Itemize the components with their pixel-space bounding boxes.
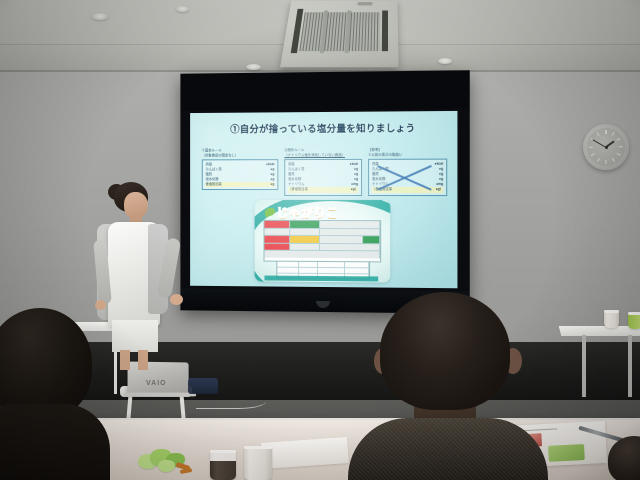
product-package-photo: じゃがりこ [255,200,391,283]
clock-tick [617,153,621,156]
ceiling-downlight [438,58,452,64]
cup-sleeve [210,461,236,480]
skirt [112,320,158,352]
slide-column-3: 【参考】 ※以前の表示の取扱い 熱量●kcal たんぱく質●g 脂質●g 炭水化… [368,147,447,195]
coffee-cup [210,450,236,480]
tweed-texture [348,418,548,480]
table-cell [318,262,345,267]
nutrition-row-salt: 食塩相当量●g [206,182,275,187]
leaf-icon [264,206,277,217]
table-cell [290,243,320,250]
table-cell [264,228,290,235]
cup-rim [604,310,619,313]
laptop-brand-label: VAIO [146,380,166,387]
table-cell [264,236,289,243]
table-leg [628,335,632,397]
table-cell [345,262,369,267]
laptop-base [124,393,197,397]
projection-screen: ①自分が摿っている塩分量を知りましょう ①基本ルール （対象食品の限定なし） 熱… [180,70,469,314]
ceiling-downlight [176,6,189,12]
clock-tick [612,158,615,162]
clock-tick [605,130,606,134]
nutrition-box: 熱量●kcal たんぱく質●g 脂質●g 炭水化物●g 食塩相当量●g [202,159,279,190]
leg [138,350,148,370]
audience-member-left [0,308,104,480]
table-cell [290,228,320,235]
shoulders [0,404,110,480]
column-heading: ②例外ルール （ナトリウム塩を添加していない食品） [284,148,362,158]
cross-out-icon [375,164,434,190]
lettuce-leaf [158,460,175,472]
table-cell [320,228,380,235]
clock-tick [589,146,593,147]
nutrition-box: 熱量●kcal たんぱく質●g 脂質●g 炭水化物●g ナトリウム●mg （食塩… [368,158,447,195]
table-cell [320,221,380,228]
table-cell [299,262,317,267]
leg [120,350,130,370]
table-cell [320,243,380,250]
face [124,192,148,219]
table-cell [264,221,290,228]
package-logo: じゃがりこ [263,203,383,218]
table-leg [582,335,586,397]
product-name: じゃがりこ [276,204,338,221]
clock-tick [619,146,623,147]
ceiling-downlight [246,64,261,70]
projected-slide: ①自分が摿っている塩分量を知りましょう ①基本ルール （対象食品の限定なし） 熱… [190,111,457,288]
slide-title: ①自分が摿っている塩分量を知りましょう [190,120,457,136]
carrot-strip [180,468,193,474]
shoulders-jacket [348,418,548,480]
package-caption-bar [264,276,378,282]
table-cell [318,268,345,273]
power-cable [196,390,266,409]
nutrition-row-salt: （食塩相当量●g） [288,187,358,192]
paper-cup [244,446,272,480]
salad-plate [136,448,200,478]
right-hand [170,294,183,305]
wall-clock [583,124,629,170]
table-cell [264,251,380,258]
table-cell [345,268,369,273]
ceiling-air-conditioner [280,0,399,67]
clock-face [587,128,625,166]
cup-rim [210,450,236,453]
ac-grille [299,12,380,51]
column-heading: ①基本ルール （対象食品の限定なし） [202,148,279,158]
audience-member-center [352,292,540,480]
head [380,292,510,410]
clock-tick [617,138,621,141]
clock-tick [612,132,615,136]
handout-vegetable-photo [548,444,585,462]
table-cell [264,243,290,250]
table-cell [290,236,320,243]
drink-cup [628,312,640,329]
cup-rim [628,312,640,315]
table-row [264,251,380,258]
package-label-table [264,220,382,263]
cup-rim [244,446,272,449]
seminar-room-photo: ①自分が摿っている塩分量を知りましょう ①基本ルール （対象食品の限定なし） 熱… [0,0,640,480]
table-cell [320,236,364,243]
screen-valance [180,70,469,111]
column-heading: 【参考】 ※以前の表示の取扱い [368,147,447,157]
clock-tick [597,132,600,136]
audience-member-right [608,436,640,480]
ac-sensor [357,2,372,5]
paper-cup [604,310,619,328]
slide-column-2: ②例外ルール （ナトリウム塩を添加していない食品） 熱量●kcal たんぱく質●… [284,148,362,196]
ceiling-downlight [92,13,108,20]
head [608,436,640,480]
table-cell [299,268,317,273]
table-cell [363,236,380,243]
nutrition-box: 熱量●kcal たんぱく質●g 脂質●g 炭水化物●g ナトリウム●mg （食塩… [284,159,362,196]
slide-column-1: ①基本ルール （対象食品の限定なし） 熱量●kcal たんぱく質●g 脂質●g … [202,148,279,190]
clock-center-pin [605,146,608,149]
clock-tick [591,153,595,156]
table-cell [277,268,299,273]
table-cell [290,221,320,228]
clock-tick [597,158,600,162]
clock-tick [605,160,606,164]
side-table [560,326,640,400]
table-cell [277,262,299,267]
ac-frame-edge [382,11,388,52]
